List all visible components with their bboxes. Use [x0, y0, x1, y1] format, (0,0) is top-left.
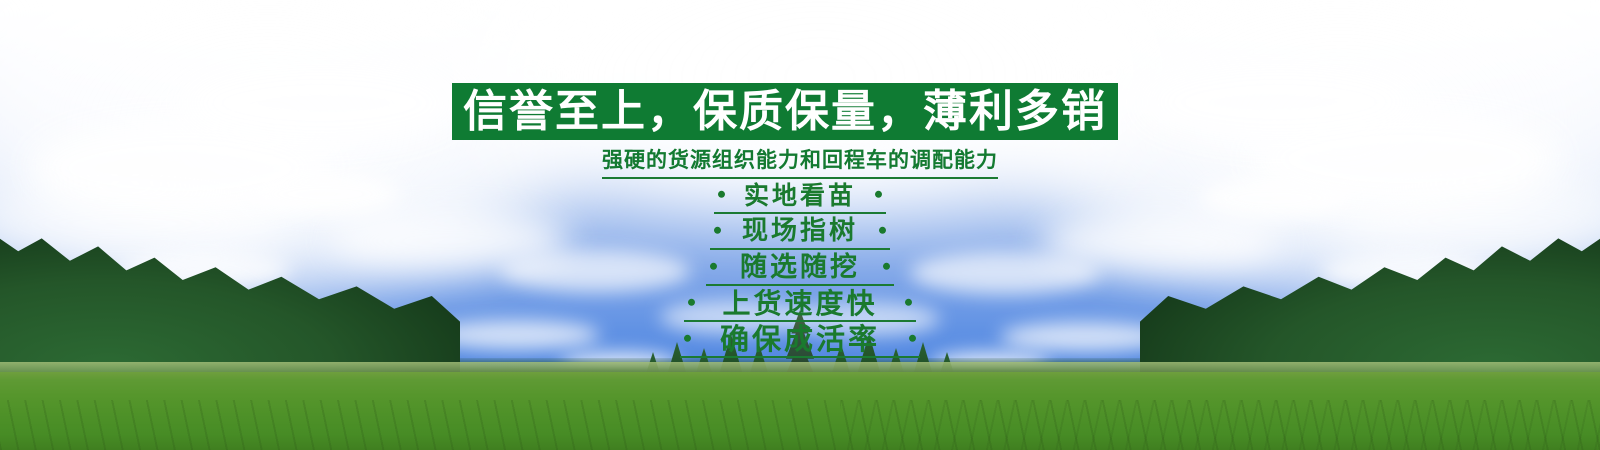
- feature-label: 实地看苗: [744, 179, 856, 212]
- subtitle-wrap: 强硬的货源组织能力和回程车的调配能力: [0, 144, 1600, 179]
- headline-text: 信誉至上，保质保量，薄利多销: [463, 90, 1107, 134]
- bullet-dot-right-icon: [905, 299, 912, 306]
- bullet-dot-right-icon: [879, 227, 886, 234]
- bullet-dot-left-icon: [710, 263, 717, 270]
- subtitle-text: 强硬的货源组织能力和回程车的调配能力: [602, 144, 998, 179]
- bullet-dot-left-icon: [714, 227, 721, 234]
- banner-content: 信誉至上，保质保量，薄利多销 强硬的货源组织能力和回程车的调配能力 实地看苗 现…: [0, 0, 1600, 450]
- feature-label: 现场指树: [742, 215, 858, 248]
- bullet-dot-right-icon: [875, 191, 882, 198]
- feature-row-inner: 现场指树: [710, 214, 890, 250]
- feature-list: 实地看苗 现场指树 随选随挖: [0, 178, 1600, 358]
- bullet-dot-left-icon: [688, 299, 695, 306]
- feature-label: 上货速度快: [722, 287, 877, 320]
- feature-row-inner: 实地看苗: [714, 178, 886, 214]
- headline-bar: 信誉至上，保质保量，薄利多销: [452, 83, 1118, 140]
- feature-row: 现场指树: [0, 214, 1600, 250]
- bullet-dot-right-icon: [909, 335, 916, 342]
- feature-row: 上货速度快: [0, 286, 1600, 322]
- feature-row: 随选随挖: [0, 250, 1600, 286]
- bullet-dot-left-icon: [684, 335, 691, 342]
- promo-banner: 信誉至上，保质保量，薄利多销 强硬的货源组织能力和回程车的调配能力 实地看苗 现…: [0, 0, 1600, 450]
- bullet-dot-right-icon: [883, 263, 890, 270]
- feature-label: 随选随挖: [740, 251, 860, 284]
- bullet-dot-left-icon: [718, 191, 725, 198]
- feature-row-inner: 确保成活率: [680, 322, 920, 358]
- feature-row: 确保成活率: [0, 322, 1600, 358]
- feature-row-inner: 上货速度快: [684, 286, 915, 322]
- feature-row-inner: 随选随挖: [706, 250, 894, 286]
- feature-label: 确保成活率: [720, 323, 880, 356]
- feature-row: 实地看苗: [0, 178, 1600, 214]
